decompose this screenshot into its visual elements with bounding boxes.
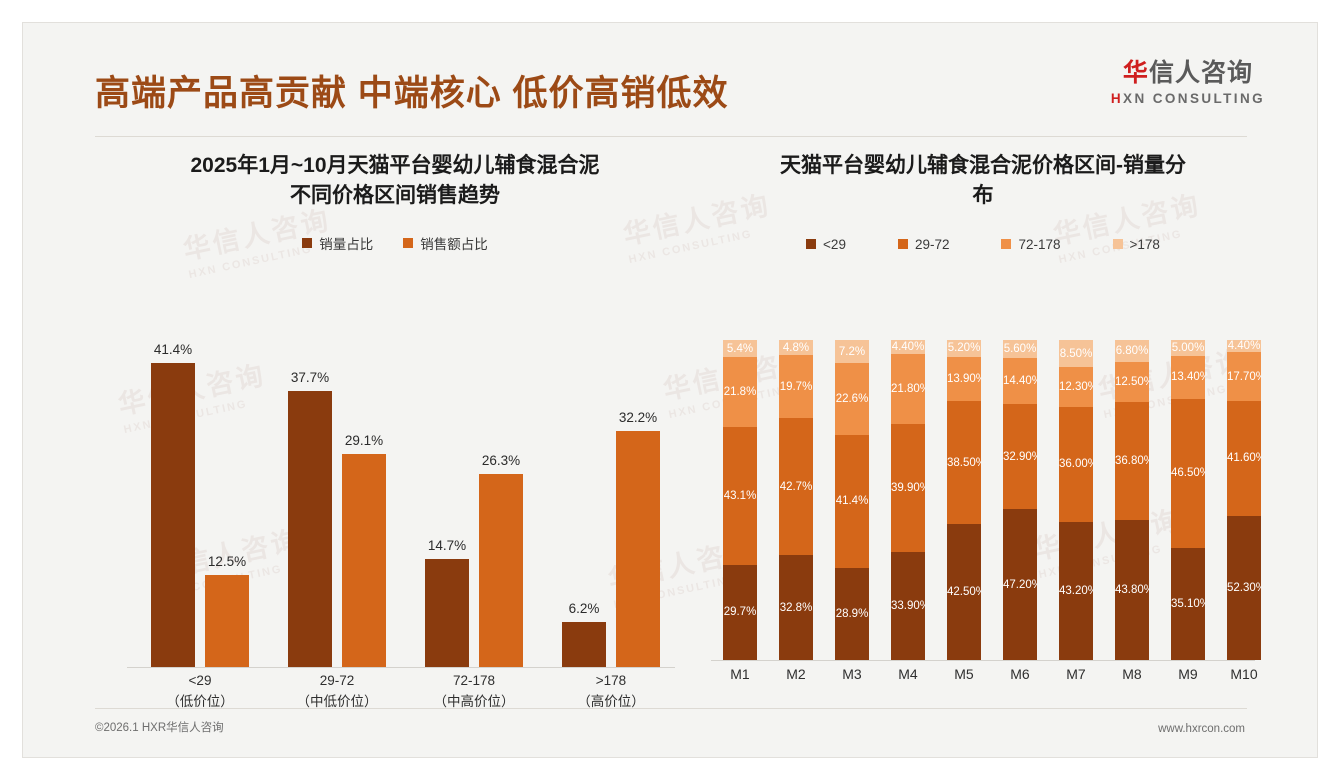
stacked-bar-segment[interactable]: 39.90% bbox=[891, 424, 925, 552]
legend-swatch-icon bbox=[898, 239, 908, 249]
stacked-bar-segment[interactable]: 12.30% bbox=[1059, 367, 1093, 406]
bar-value-label: 29.1% bbox=[345, 433, 383, 448]
bar-column[interactable]: 32.2% bbox=[616, 431, 660, 667]
bar[interactable] bbox=[616, 431, 660, 667]
left-chart-panel: 2025年1月~10月天猫平台婴幼儿辅食混合泥 不同价格区间销售趋势 销量占比销… bbox=[95, 151, 695, 721]
bar-group: 41.4%12.5% bbox=[137, 303, 263, 667]
right-chart-panel: 天猫平台婴幼儿辅食混合泥价格区间-销量分 布 <2929-7272-178>17… bbox=[703, 151, 1263, 721]
logo-en-rest: XN CONSULTING bbox=[1123, 91, 1265, 106]
logo-chinese-text: 华信人咨询 bbox=[1111, 61, 1265, 86]
stacked-bar-column[interactable]: 4.40%21.80%39.90%33.90% bbox=[891, 340, 925, 660]
x-axis-label-main: >178 bbox=[596, 673, 626, 688]
right-chart-plot-area: 5.4%21.8%43.1%29.7%4.8%19.7%42.7%32.8%7.… bbox=[709, 309, 1257, 661]
bar[interactable] bbox=[205, 575, 249, 667]
stacked-bar-column[interactable]: 6.80%12.50%36.80%43.80% bbox=[1115, 340, 1149, 660]
stacked-bar-segment[interactable]: 13.90% bbox=[947, 357, 981, 401]
stacked-bar-column[interactable]: 4.8%19.7%42.7%32.8% bbox=[779, 340, 813, 660]
stacked-bar-segment[interactable]: 42.7% bbox=[779, 418, 813, 555]
stacked-segment-value-label: 43.20% bbox=[1059, 585, 1093, 597]
bar-value-label: 14.7% bbox=[428, 538, 466, 553]
x-axis-label: M3 bbox=[829, 666, 875, 682]
slide-canvas: 华信人咨询 HXN CONSULTING 华信人咨询 HXN CONSULTIN… bbox=[22, 22, 1318, 758]
x-axis-label-sub: （高价位） bbox=[548, 692, 674, 713]
left-chart-x-axis-labels: <29（低价位）29-72（中低价位）72-178（中高价位）>178（高价位） bbox=[109, 671, 683, 723]
stacked-bar-segment[interactable]: 4.40% bbox=[891, 340, 925, 354]
stacked-segment-value-label: 52.30% bbox=[1227, 582, 1261, 594]
stacked-bar-segment[interactable]: 5.4% bbox=[723, 340, 757, 357]
stacked-segment-value-label: 7.2% bbox=[835, 346, 869, 358]
bar[interactable] bbox=[151, 363, 195, 667]
stacked-bar-segment[interactable]: 28.9% bbox=[835, 568, 869, 660]
x-axis-label: M10 bbox=[1221, 666, 1267, 682]
stacked-bar-segment[interactable]: 42.50% bbox=[947, 524, 981, 660]
stacked-bar-segment[interactable]: 4.40% bbox=[1227, 340, 1261, 352]
stacked-segment-value-label: 17.70% bbox=[1227, 371, 1261, 383]
stacked-segment-value-label: 22.6% bbox=[835, 393, 869, 405]
stacked-segment-value-label: 42.50% bbox=[947, 586, 981, 598]
stacked-bar-column[interactable]: 4.40%17.70%41.60%52.30% bbox=[1227, 340, 1261, 660]
x-axis-label-sub: （中低价位） bbox=[274, 692, 400, 713]
x-axis-label: M2 bbox=[773, 666, 819, 682]
logo-cn-highlight: 华 bbox=[1123, 59, 1149, 87]
logo-en-highlight: H bbox=[1111, 91, 1123, 106]
stacked-bar-segment[interactable]: 19.7% bbox=[779, 355, 813, 418]
stacked-segment-value-label: 32.90% bbox=[1003, 451, 1037, 463]
legend-label: 72-178 bbox=[1018, 237, 1060, 252]
footer-website: www.hxrcon.com bbox=[1158, 723, 1245, 735]
stacked-segment-value-label: 42.7% bbox=[779, 481, 813, 493]
page-title: 高端产品高贡献 中端核心 低价高销低效 bbox=[95, 65, 728, 116]
stacked-segment-value-label: 36.00% bbox=[1059, 458, 1093, 470]
legend-swatch-icon bbox=[1113, 239, 1123, 249]
stacked-segment-value-label: 4.40% bbox=[1227, 340, 1261, 352]
stacked-bar-segment[interactable]: 32.8% bbox=[779, 555, 813, 660]
x-axis-label-main: 72-178 bbox=[453, 673, 495, 688]
bar-column[interactable]: 26.3% bbox=[479, 474, 523, 667]
left-chart-title-line1: 2025年1月~10月天猫平台婴幼儿辅食混合泥 bbox=[109, 151, 681, 181]
stacked-segment-value-label: 39.90% bbox=[891, 482, 925, 494]
stacked-bar-segment[interactable]: 21.8% bbox=[723, 357, 757, 427]
x-axis-label: >178（高价位） bbox=[548, 671, 674, 713]
right-chart-title-line1: 天猫平台婴幼儿辅食混合泥价格区间-销量分 bbox=[725, 151, 1241, 181]
stacked-segment-value-label: 12.30% bbox=[1059, 381, 1093, 393]
x-axis-label: M5 bbox=[941, 666, 987, 682]
bar[interactable] bbox=[342, 454, 386, 667]
stacked-segment-value-label: 13.40% bbox=[1171, 371, 1205, 383]
x-axis-label: <29（低价位） bbox=[137, 671, 263, 713]
stacked-segment-value-label: 36.80% bbox=[1115, 455, 1149, 467]
bar-column[interactable]: 41.4% bbox=[151, 363, 195, 667]
bar-value-label: 6.2% bbox=[569, 601, 600, 616]
stacked-segment-value-label: 5.60% bbox=[1003, 343, 1037, 355]
bar-group: 14.7%26.3% bbox=[411, 303, 537, 667]
legend-swatch-icon bbox=[403, 238, 413, 248]
left-chart-plot-area: 41.4%12.5%37.7%29.1%14.7%26.3%6.2%32.2% bbox=[109, 303, 683, 668]
legend-label: 销量占比 bbox=[319, 233, 373, 253]
stacked-bar-segment[interactable]: 38.50% bbox=[947, 401, 981, 524]
stacked-bar-segment[interactable]: 43.1% bbox=[723, 427, 757, 565]
stacked-segment-value-label: 41.60% bbox=[1227, 452, 1261, 464]
right-chart-title: 天猫平台婴幼儿辅食混合泥价格区间-销量分 布 bbox=[703, 151, 1263, 211]
stacked-segment-value-label: 4.40% bbox=[891, 341, 925, 353]
stacked-bar-column[interactable]: 5.60%14.40%32.90%47.20% bbox=[1003, 340, 1037, 660]
legend-swatch-icon bbox=[806, 239, 816, 249]
stacked-segment-value-label: 32.8% bbox=[779, 602, 813, 614]
stacked-segment-value-label: 5.20% bbox=[947, 342, 981, 354]
stacked-segment-value-label: 43.1% bbox=[723, 490, 757, 502]
bar-column[interactable]: 12.5% bbox=[205, 575, 249, 667]
stacked-bar-segment[interactable]: 7.2% bbox=[835, 340, 869, 363]
x-axis-label: M1 bbox=[717, 666, 763, 682]
stacked-segment-value-label: 33.90% bbox=[891, 600, 925, 612]
x-axis-label: M8 bbox=[1109, 666, 1155, 682]
stacked-segment-value-label: 28.9% bbox=[835, 608, 869, 620]
x-axis-label: M6 bbox=[997, 666, 1043, 682]
legend-label: <29 bbox=[823, 237, 846, 252]
bar[interactable] bbox=[288, 391, 332, 667]
right-chart-legend-item[interactable]: 72-178 bbox=[1001, 237, 1060, 252]
bar[interactable] bbox=[562, 622, 606, 667]
stacked-segment-value-label: 14.40% bbox=[1003, 375, 1037, 387]
stacked-bar-column[interactable]: 8.50%12.30%36.00%43.20% bbox=[1059, 340, 1093, 660]
stacked-bar-segment[interactable]: 5.20% bbox=[947, 340, 981, 357]
bar-column[interactable]: 29.1% bbox=[342, 454, 386, 667]
legend-swatch-icon bbox=[302, 238, 312, 248]
stacked-bar-column[interactable]: 7.2%22.6%41.4%28.9% bbox=[835, 340, 869, 660]
bar-group: 37.7%29.1% bbox=[274, 303, 400, 667]
stacked-segment-value-label: 21.8% bbox=[723, 386, 757, 398]
stacked-segment-value-label: 19.7% bbox=[779, 381, 813, 393]
x-axis-label-main: 29-72 bbox=[320, 673, 355, 688]
right-chart-legend-item[interactable]: <29 bbox=[806, 237, 846, 252]
bar-column[interactable]: 37.7% bbox=[288, 391, 332, 667]
x-axis-label-sub: （低价位） bbox=[137, 692, 263, 713]
stacked-bar-segment[interactable]: 21.80% bbox=[891, 354, 925, 424]
logo-english-text: HXN CONSULTING bbox=[1111, 92, 1265, 106]
x-axis-label: M7 bbox=[1053, 666, 1099, 682]
right-chart-legend-item[interactable]: >178 bbox=[1113, 237, 1160, 252]
stacked-bar-segment[interactable]: 36.80% bbox=[1115, 402, 1149, 520]
stacked-segment-value-label: 35.10% bbox=[1171, 598, 1205, 610]
stacked-bar-segment[interactable]: 41.4% bbox=[835, 435, 869, 567]
legend-label: 29-72 bbox=[915, 237, 950, 252]
stacked-segment-value-label: 4.8% bbox=[779, 342, 813, 354]
stacked-bar-segment[interactable]: 13.40% bbox=[1171, 356, 1205, 399]
stacked-bar-segment[interactable]: 33.90% bbox=[891, 552, 925, 660]
stacked-segment-value-label: 21.80% bbox=[891, 383, 925, 395]
stacked-bar-segment[interactable]: 35.10% bbox=[1171, 548, 1205, 660]
stacked-bar-segment[interactable]: 5.00% bbox=[1171, 340, 1205, 356]
stacked-bar-segment[interactable]: 17.70% bbox=[1227, 352, 1261, 401]
footer-divider bbox=[95, 708, 1247, 709]
x-axis-label: M4 bbox=[885, 666, 931, 682]
stacked-segment-value-label: 47.20% bbox=[1003, 579, 1037, 591]
stacked-segment-value-label: 43.80% bbox=[1115, 584, 1149, 596]
stacked-bar-column[interactable]: 5.00%13.40%46.50%35.10% bbox=[1171, 340, 1205, 660]
stacked-bar-segment[interactable]: 22.6% bbox=[835, 363, 869, 435]
bar-value-label: 41.4% bbox=[154, 342, 192, 357]
x-axis-label: 72-178（中高价位） bbox=[411, 671, 537, 713]
right-chart-legend-item[interactable]: 29-72 bbox=[898, 237, 950, 252]
slide-header: 高端产品高贡献 中端核心 低价高销低效 华信人咨询 HXN CONSULTING bbox=[23, 23, 1317, 128]
legend-label: 销售额占比 bbox=[420, 233, 488, 253]
brand-logo: 华信人咨询 HXN CONSULTING bbox=[1111, 61, 1265, 106]
left-chart-legend-item[interactable]: 销量占比 bbox=[302, 233, 373, 253]
stacked-bar-segment[interactable]: 8.50% bbox=[1059, 340, 1093, 367]
stacked-bar-segment[interactable]: 32.90% bbox=[1003, 404, 1037, 509]
legend-label: >178 bbox=[1130, 237, 1160, 252]
stacked-bar-segment[interactable]: 5.60% bbox=[1003, 340, 1037, 358]
x-axis-label-sub: （中高价位） bbox=[411, 692, 537, 713]
stacked-segment-value-label: 46.50% bbox=[1171, 467, 1205, 479]
stacked-bar-segment[interactable]: 43.80% bbox=[1115, 520, 1149, 660]
logo-cn-rest: 信人咨询 bbox=[1149, 59, 1253, 87]
footer-copyright: ©2026.1 HXR华信人咨询 bbox=[95, 719, 224, 735]
left-chart-title: 2025年1月~10月天猫平台婴幼儿辅食混合泥 不同价格区间销售趋势 bbox=[95, 151, 695, 211]
stacked-bar-segment[interactable]: 12.50% bbox=[1115, 362, 1149, 402]
stacked-bar-segment[interactable]: 47.20% bbox=[1003, 509, 1037, 660]
stacked-segment-value-label: 41.4% bbox=[835, 495, 869, 507]
x-axis-label-main: <29 bbox=[189, 673, 212, 688]
stacked-bar-column[interactable]: 5.4%21.8%43.1%29.7% bbox=[723, 340, 757, 660]
left-chart-title-line2: 不同价格区间销售趋势 bbox=[109, 181, 681, 211]
right-chart-x-axis-labels: M1M2M3M4M5M6M7M8M9M10 bbox=[709, 666, 1257, 696]
stacked-bar-segment[interactable]: 41.60% bbox=[1227, 401, 1261, 516]
bar-value-label: 26.3% bbox=[482, 453, 520, 468]
right-chart-axis bbox=[711, 660, 1255, 661]
stacked-segment-value-label: 38.50% bbox=[947, 457, 981, 469]
bar-group: 6.2%32.2% bbox=[548, 303, 674, 667]
x-axis-label: M9 bbox=[1165, 666, 1211, 682]
stacked-segment-value-label: 5.00% bbox=[1171, 342, 1205, 354]
stacked-bar-segment[interactable]: 14.40% bbox=[1003, 358, 1037, 404]
stacked-bar-segment[interactable]: 46.50% bbox=[1171, 399, 1205, 548]
stacked-segment-value-label: 6.80% bbox=[1115, 345, 1149, 357]
bar-value-label: 32.2% bbox=[619, 410, 657, 425]
stacked-bar-segment[interactable]: 4.8% bbox=[779, 340, 813, 355]
stacked-bar-segment[interactable]: 43.20% bbox=[1059, 522, 1093, 660]
bar-value-label: 37.7% bbox=[291, 370, 329, 385]
bar[interactable] bbox=[479, 474, 523, 667]
left-chart-legend-item[interactable]: 销售额占比 bbox=[403, 233, 488, 253]
stacked-segment-value-label: 5.4% bbox=[723, 343, 757, 355]
header-divider bbox=[95, 136, 1247, 137]
stacked-segment-value-label: 29.7% bbox=[723, 606, 757, 618]
left-chart-legend: 销量占比销售额占比 bbox=[95, 233, 695, 253]
bar-column[interactable]: 14.7% bbox=[425, 559, 469, 667]
bar[interactable] bbox=[425, 559, 469, 667]
right-chart-title-line2: 布 bbox=[725, 181, 1241, 211]
stacked-bar-segment[interactable]: 36.00% bbox=[1059, 407, 1093, 522]
stacked-bar-column[interactable]: 5.20%13.90%38.50%42.50% bbox=[947, 340, 981, 660]
stacked-bar-segment[interactable]: 6.80% bbox=[1115, 340, 1149, 362]
bar-value-label: 12.5% bbox=[208, 554, 246, 569]
right-chart-legend: <2929-7272-178>178 bbox=[703, 237, 1263, 252]
x-axis-label: 29-72（中低价位） bbox=[274, 671, 400, 713]
stacked-segment-value-label: 12.50% bbox=[1115, 376, 1149, 388]
stacked-segment-value-label: 8.50% bbox=[1059, 348, 1093, 360]
left-chart-axis bbox=[127, 667, 675, 668]
stacked-bar-segment[interactable]: 52.30% bbox=[1227, 516, 1261, 660]
legend-swatch-icon bbox=[1001, 239, 1011, 249]
stacked-segment-value-label: 13.90% bbox=[947, 373, 981, 385]
stacked-bar-segment[interactable]: 29.7% bbox=[723, 565, 757, 660]
bar-column[interactable]: 6.2% bbox=[562, 622, 606, 667]
